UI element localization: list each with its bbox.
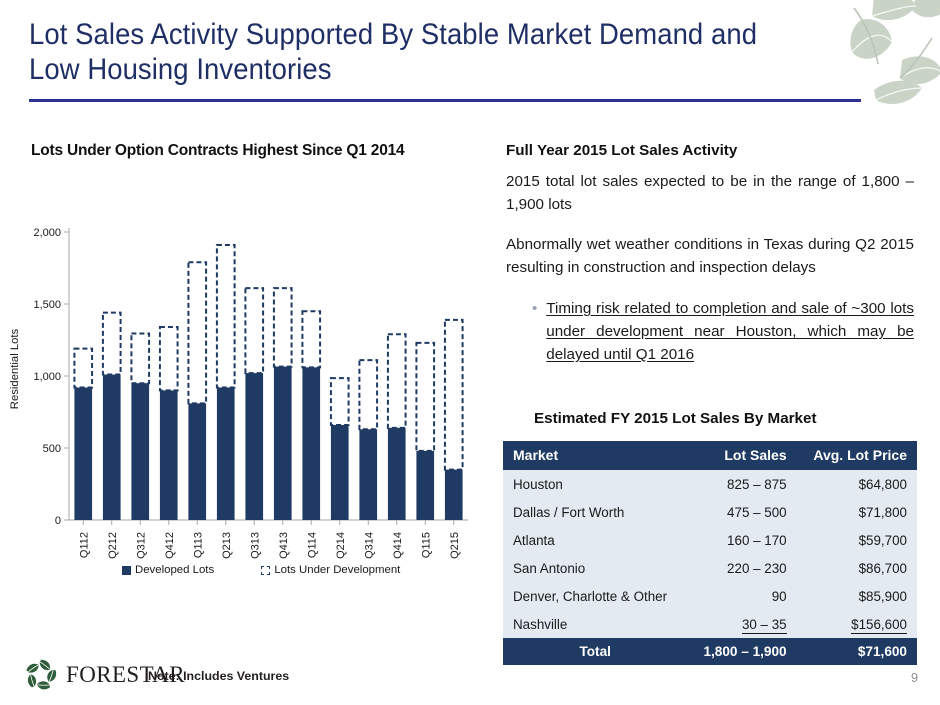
y-axis-tick-label: 0 — [55, 515, 61, 527]
y-axis-tick-label: 500 — [43, 443, 61, 455]
x-axis-tick-label: Q115 — [420, 532, 432, 558]
narrative-paragraph: Abnormally wet weather conditions in Tex… — [506, 234, 914, 279]
bar-segment-developed-lots — [245, 373, 263, 520]
cell-lot-sales: 160 – 170 — [687, 526, 796, 554]
bar-segment-developed-lots — [388, 428, 406, 520]
bar-segment-developed-lots — [131, 383, 149, 520]
chart-container: 05001,0001,5002,000 Q112Q212Q312Q412Q113… — [0, 214, 480, 594]
cell-market: Atlanta — [503, 526, 687, 554]
column-header-avg-lot-price: Avg. Lot Price — [797, 441, 917, 470]
x-axis-tick-label: Q212 — [107, 532, 119, 559]
cell-avg-lot-price: $71,800 — [797, 498, 917, 526]
bar-segment-lots-under-development — [160, 327, 178, 390]
bar-segment-lots-under-development — [302, 311, 320, 367]
bar-segment-developed-lots — [331, 425, 349, 520]
cell-market: Houston — [503, 470, 687, 498]
y-axis-tick-label: 2,000 — [33, 227, 61, 239]
table-row: Dallas / Fort Worth475 – 500$71,800 — [503, 498, 917, 526]
legend-label: Lots Under Development — [274, 564, 400, 576]
bar-segment-lots-under-development — [188, 262, 206, 403]
cell-lot-sales: 825 – 875 — [687, 470, 796, 498]
cell-market: Dallas / Fort Worth — [503, 498, 687, 526]
x-axis-tick-label: Q312 — [135, 532, 147, 559]
table-row: San Antonio220 – 230$86,700 — [503, 554, 917, 582]
narrative-heading: Full Year 2015 Lot Sales Activity — [506, 142, 914, 159]
legend-item-lots-under-development: Lots Under Development — [261, 564, 400, 576]
x-axis-tick-label: Q412 — [164, 532, 176, 559]
total-label: Total — [503, 638, 687, 665]
cell-lot-sales: 30 – 35 — [687, 610, 796, 638]
cell-avg-lot-price: $86,700 — [797, 554, 917, 582]
bar-segment-lots-under-development — [217, 245, 235, 388]
cell-lot-sales: 90 — [687, 582, 796, 610]
lot-inventory-bar-chart: 05001,0001,5002,000 Q112Q212Q312Q412Q113… — [0, 214, 480, 594]
cell-avg-lot-price: $85,900 — [797, 582, 917, 610]
cell-market: San Antonio — [503, 554, 687, 582]
bar-segment-developed-lots — [302, 367, 320, 520]
bar-segment-lots-under-development — [388, 334, 406, 428]
bar-segment-lots-under-development — [331, 378, 349, 425]
bar-segment-developed-lots — [416, 451, 434, 520]
y-axis-tick-label: 1,000 — [33, 371, 61, 383]
column-header-market: Market — [503, 441, 687, 470]
y-axis-tick-label: 1,500 — [33, 299, 61, 311]
bar-segment-lots-under-development — [416, 343, 434, 451]
cell-market: Denver, Charlotte & Other — [503, 582, 687, 610]
x-axis-tick-label: Q313 — [249, 532, 261, 559]
bar-segment-developed-lots — [188, 403, 206, 520]
table-row: Houston825 – 875$64,800 — [503, 470, 917, 498]
x-axis-tick-label: Q413 — [278, 532, 290, 559]
cell-avg-lot-price: $59,700 — [797, 526, 917, 554]
bar-segment-lots-under-development — [74, 349, 92, 388]
bar-segment-developed-lots — [160, 390, 178, 520]
bullet-dot-icon: • — [532, 297, 537, 366]
leaf-watermark-graphic — [814, 0, 940, 112]
narrative-bullet: • Timing risk related to completion and … — [532, 297, 914, 366]
total-lot-sales: 1,800 – 1,900 — [687, 638, 796, 665]
bar-segment-developed-lots — [445, 470, 463, 520]
forestar-leaf-mark-icon — [23, 657, 59, 693]
table-row: Denver, Charlotte & Other90$85,900 — [503, 582, 917, 610]
cell-avg-lot-price: $156,600 — [797, 610, 917, 638]
x-axis-tick-label: Q112 — [78, 532, 90, 558]
table-title: Estimated FY 2015 Lot Sales By Market — [534, 410, 914, 427]
bar-segment-developed-lots — [103, 375, 121, 520]
bar-segment-developed-lots — [274, 367, 292, 520]
dashed-square-icon — [261, 566, 270, 575]
column-header-lot-sales: Lot Sales — [687, 441, 796, 470]
table-row: Atlanta160 – 170$59,700 — [503, 526, 917, 554]
x-axis-tick-label: Q213 — [221, 532, 233, 559]
table-header-row: Market Lot Sales Avg. Lot Price — [503, 441, 917, 470]
title-divider-rule — [29, 99, 861, 102]
cell-market: Nashville — [503, 610, 687, 638]
footer-note: Note: Includes Ventures — [148, 669, 289, 683]
bullet-text: Timing risk related to completion and sa… — [546, 297, 914, 366]
cell-lot-sales: 220 – 230 — [687, 554, 796, 582]
x-axis-tick-label: Q414 — [392, 532, 404, 559]
legend-label: Developed Lots — [135, 564, 214, 576]
x-axis-tick-label: Q215 — [449, 532, 461, 559]
bar-segment-developed-lots — [74, 388, 92, 520]
bar-segment-lots-under-development — [359, 360, 377, 429]
bar-segment-lots-under-development — [131, 334, 149, 384]
x-axis-tick-label: Q314 — [363, 532, 375, 559]
solid-square-icon — [122, 566, 131, 575]
chart-heading: Lots Under Option Contracts Highest Sinc… — [31, 142, 471, 160]
lot-sales-by-market-table: Market Lot Sales Avg. Lot Price Houston8… — [503, 441, 917, 665]
legend-item-developed-lots: Developed Lots — [122, 564, 214, 576]
x-axis-tick-label: Q113 — [192, 532, 204, 558]
page-title: Lot Sales Activity Supported By Stable M… — [29, 17, 782, 87]
total-avg-lot-price: $71,600 — [797, 638, 917, 665]
bar-segment-lots-under-development — [274, 288, 292, 366]
x-axis-tick-label: Q114 — [306, 532, 318, 558]
x-axis-tick-label: Q214 — [335, 532, 347, 559]
bar-segment-lots-under-development — [103, 313, 121, 375]
y-axis-title: Residential Lots — [9, 328, 21, 409]
bar-segment-lots-under-development — [445, 320, 463, 470]
table-total-row: Total 1,800 – 1,900 $71,600 — [503, 638, 917, 665]
narrative-paragraph: 2015 total lot sales expected to be in t… — [506, 171, 914, 216]
table-row: Nashville30 – 35$156,600 — [503, 610, 917, 638]
narrative-column: Full Year 2015 Lot Sales Activity 2015 t… — [506, 142, 914, 376]
bar-segment-lots-under-development — [245, 288, 263, 373]
cell-avg-lot-price: $64,800 — [797, 470, 917, 498]
bar-segment-developed-lots — [359, 429, 377, 520]
bar-segment-developed-lots — [217, 388, 235, 520]
chart-legend: Developed Lots Lots Under Development — [122, 564, 462, 576]
page-number: 9 — [911, 671, 918, 685]
cell-lot-sales: 475 – 500 — [687, 498, 796, 526]
